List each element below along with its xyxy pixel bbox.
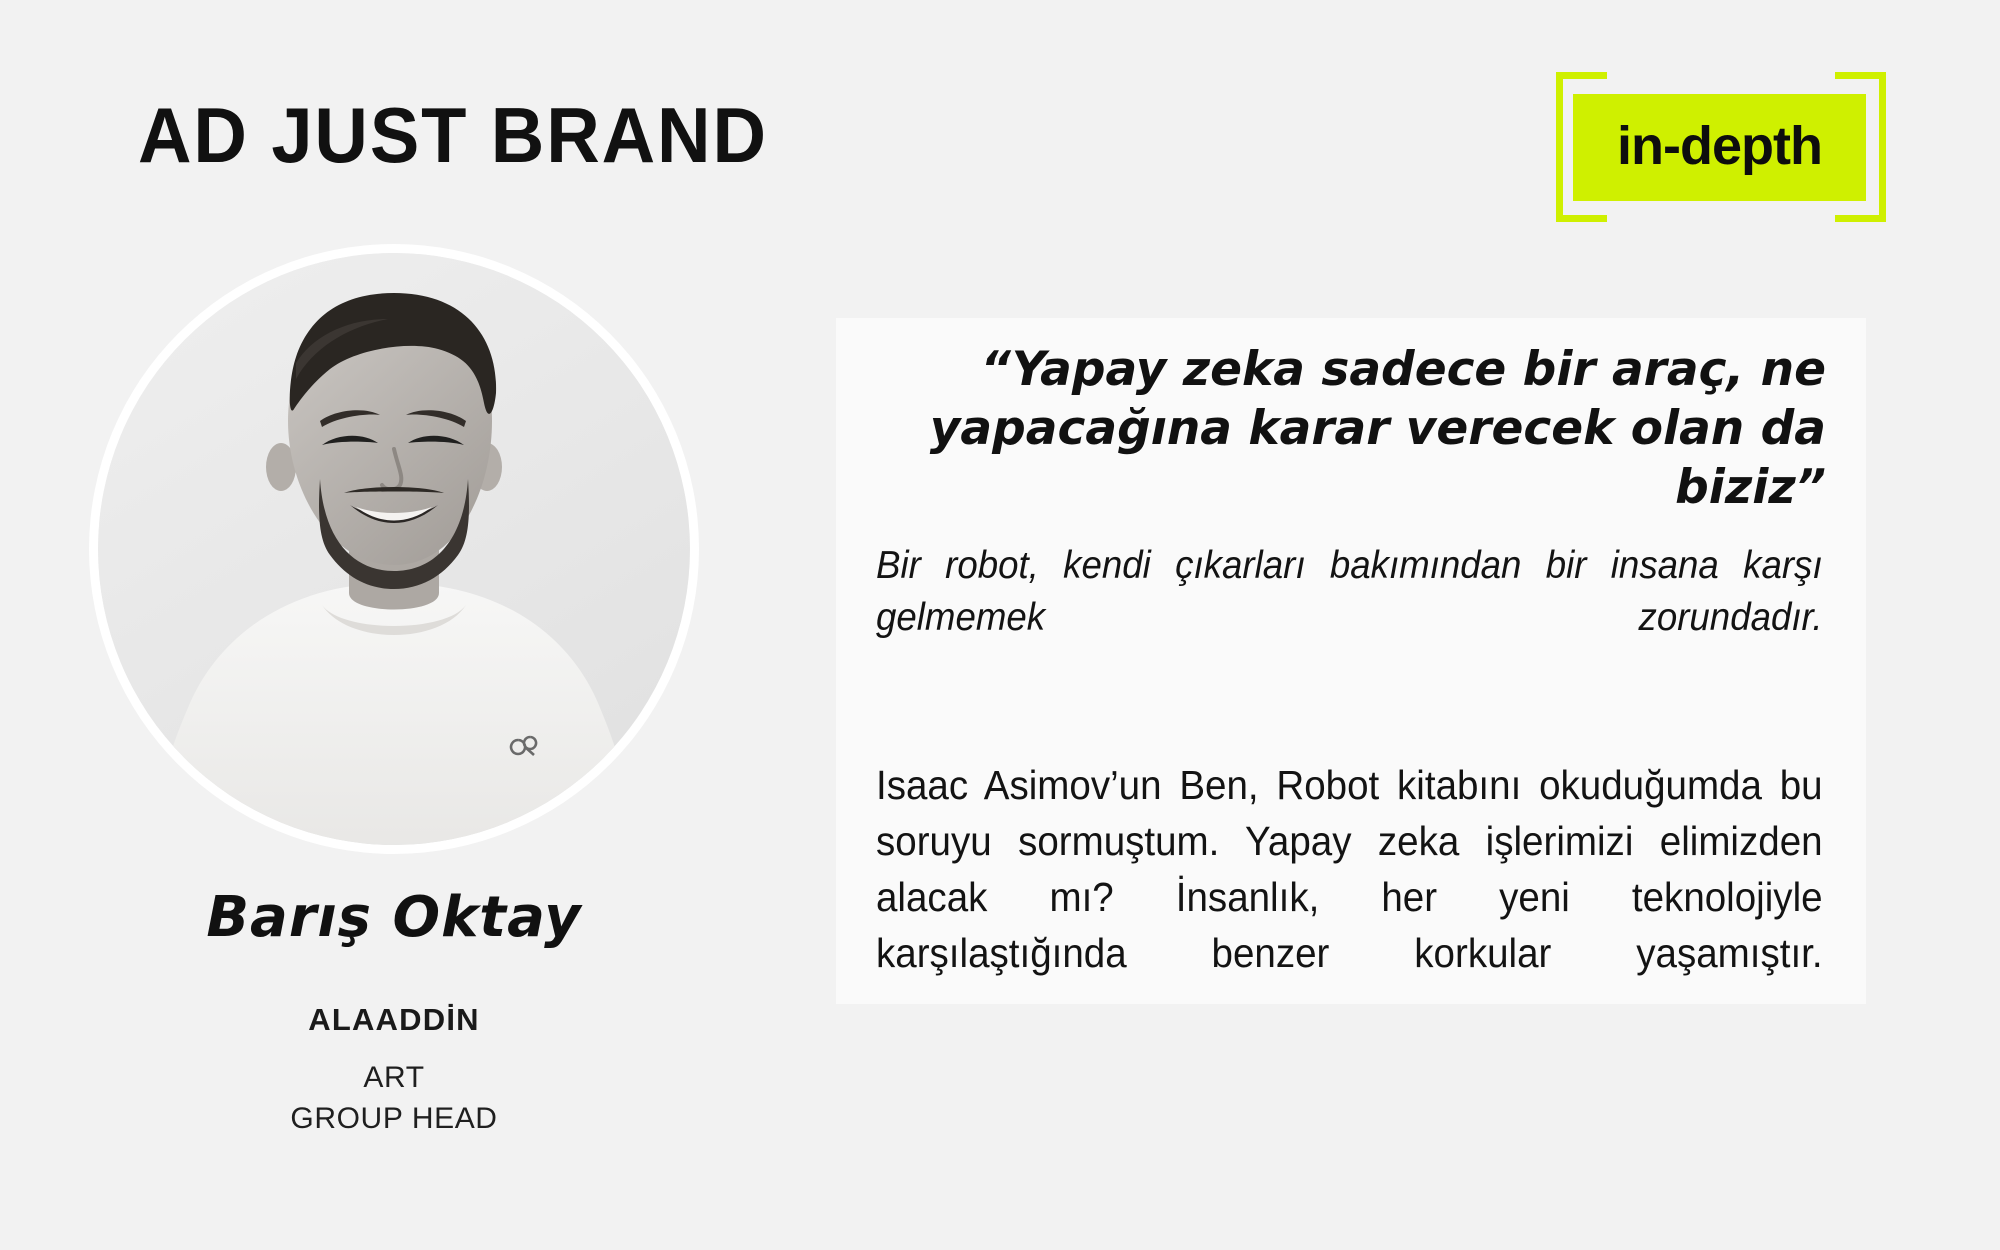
speaker-company: ALAADDİN xyxy=(98,1004,690,1035)
quote-body: Isaac Asimov’un Ben, Robot kitabını okud… xyxy=(876,758,1823,1037)
bracket-left-edge-icon xyxy=(1556,102,1563,192)
bracket-right-edge-icon xyxy=(1879,102,1886,192)
speaker-role-line-2: GROUP HEAD xyxy=(98,1099,690,1140)
quote-card: “Yapay zeka sadece bir araç, ne yapacağı… xyxy=(836,318,1866,1004)
speaker-name: Barış Oktay xyxy=(98,890,690,946)
quote-card-content: “Yapay zeka sadece bir araç, ne yapacağı… xyxy=(876,340,1826,1037)
badge-fill: in-depth xyxy=(1573,94,1866,201)
quote-subtitle: Bir robot, kendi çıkarları bakımından bi… xyxy=(876,540,1823,697)
in-depth-badge: in-depth xyxy=(1556,72,1886,222)
quote-headline: “Yapay zeka sadece bir araç, ne yapacağı… xyxy=(876,340,1826,518)
page-title: AD JUST BRAND xyxy=(138,96,768,174)
avatar xyxy=(98,253,690,845)
slide-canvas: AD JUST BRAND in-depth xyxy=(0,0,2000,1250)
badge-label: in-depth xyxy=(1617,119,1822,173)
speaker-role-line-1: ART xyxy=(98,1058,690,1099)
speaker-role: ART GROUP HEAD xyxy=(98,1058,690,1140)
